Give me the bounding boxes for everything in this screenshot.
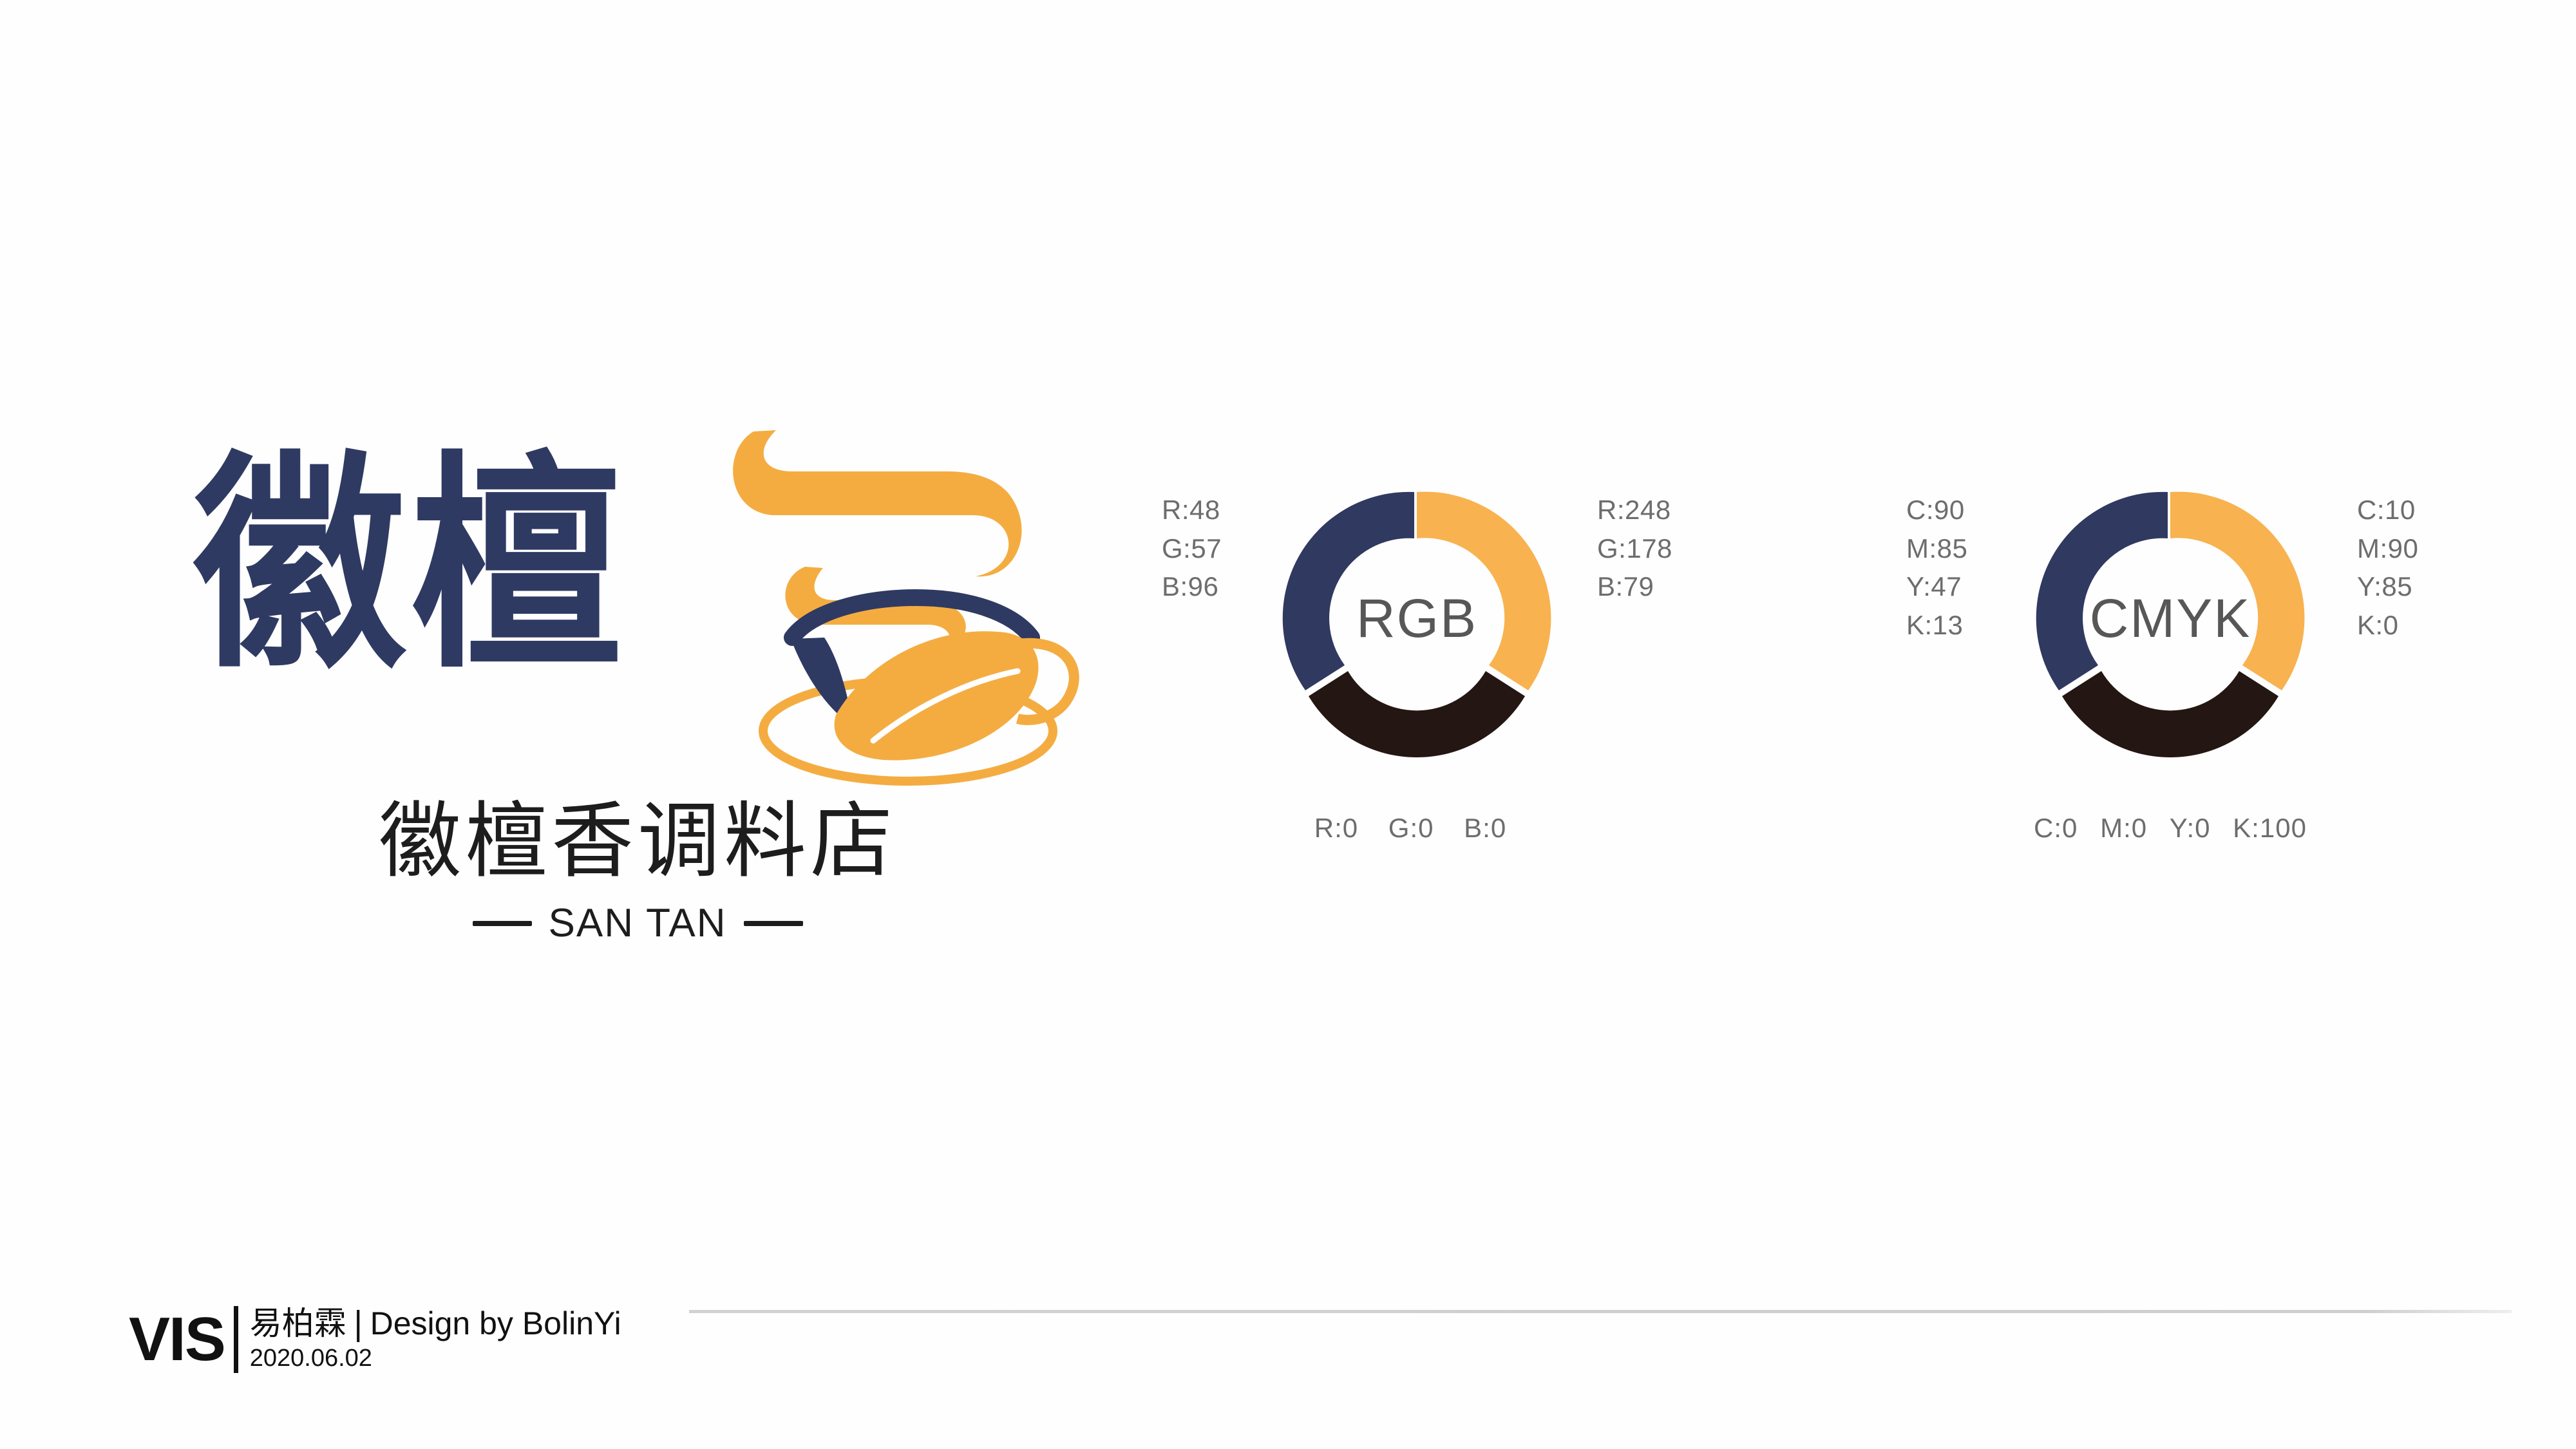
rgb-right-g: G:178 — [1597, 529, 1672, 568]
cmyk-right-m: M:90 — [2357, 529, 2418, 568]
footer-text-stack: 易柏霖 | Design by BolinYi 2020.06.02 — [250, 1307, 621, 1372]
rgb-donut-chart: RGB — [1275, 477, 1558, 760]
cmyk-left-m: M:85 — [1906, 529, 1967, 568]
rgb-bottom-b: B:0 — [1464, 813, 1506, 843]
logo-block: 徽檀 徽檀香调料店 — [167, 348, 1108, 1056]
cmyk-right-y: Y:85 — [2357, 567, 2418, 606]
rgb-right-r: R:248 — [1597, 491, 1672, 529]
swatch-cmyk-label-left: C:90 M:85 Y:47 K:13 — [1906, 491, 1967, 645]
footer-date: 2020.06.02 — [250, 1345, 621, 1372]
footer-credit-row: 易柏霖 | Design by BolinYi — [250, 1307, 621, 1341]
cmyk-left-c: C:90 — [1906, 491, 1967, 529]
rule-right-icon — [744, 921, 803, 926]
cmyk-right-k: K:0 — [2357, 606, 2418, 645]
footer-divider — [689, 1310, 2512, 1313]
rgb-right-b: B:79 — [1597, 567, 1672, 606]
rgb-left-r: R:48 — [1162, 491, 1222, 529]
cmyk-left-k: K:13 — [1906, 606, 1967, 645]
rgb-bottom-g: G:0 — [1388, 813, 1434, 843]
cmyk-bottom-k: K:100 — [2233, 813, 2307, 843]
footer-separator: | — [353, 1307, 364, 1341]
cmyk-bottom-y: Y:0 — [2170, 813, 2211, 843]
cmyk-bottom-c: C:0 — [2034, 813, 2078, 843]
logo-subtitle-cn: 徽檀香调料店 — [167, 799, 1108, 885]
cmyk-right-c: C:10 — [2357, 491, 2418, 529]
logo-subtitle-en: SAN TAN — [549, 900, 727, 946]
swatch-rgb-label-left: R:48 G:57 B:96 — [1162, 491, 1222, 606]
cmyk-bottom-m: M:0 — [2100, 813, 2147, 843]
coffee-cup-leaf-icon — [715, 354, 1114, 805]
cmyk-center-label: CMYK — [2029, 477, 2312, 760]
steam-upper-icon — [733, 430, 1021, 576]
footer-bar-icon — [234, 1306, 238, 1373]
logo-subtitle-group: 徽檀香调料店 SAN TAN — [167, 799, 1108, 946]
cmyk-left-y: Y:47 — [1906, 567, 1967, 606]
rule-left-icon — [473, 921, 532, 926]
cmyk-donut-chart: CMYK — [2029, 477, 2312, 760]
rgb-left-b: B:96 — [1162, 567, 1222, 606]
rgb-bottom-r: R:0 — [1314, 813, 1358, 843]
swatch-rgb: R:48 G:57 B:96 RGB R:248 G:178 B:79 R:0 … — [1153, 451, 1681, 1005]
logo-wordmark: 徽檀 — [193, 451, 626, 680]
swatch-rgb-label-bottom: R:0 G:0 B:0 — [1146, 809, 1674, 848]
logo-subtitle-en-row: SAN TAN — [167, 900, 1108, 946]
footer-vis-label: VIS — [129, 1309, 225, 1370]
swatch-rgb-label-right: R:248 G:178 B:79 — [1597, 491, 1672, 606]
logo-mark-row: 徽檀 — [167, 348, 1108, 811]
brand-guideline-page: 徽檀 徽檀香调料店 — [0, 0, 2576, 1449]
swatch-cmyk-label-right: C:10 M:90 Y:85 K:0 — [2357, 491, 2418, 645]
footer: VIS 易柏霖 | Design by BolinYi 2020.06.02 — [129, 1306, 621, 1373]
rgb-center-label: RGB — [1275, 477, 1558, 760]
swatch-cmyk: C:90 M:85 Y:47 K:13 CMYK C:10 M:90 Y:85 … — [1906, 451, 2434, 1005]
swatch-cmyk-label-bottom: C:0 M:0 Y:0 K:100 — [1906, 809, 2434, 848]
footer-author-cn: 易柏霖 — [250, 1307, 346, 1341]
cup-body-leaf-icon — [835, 631, 1039, 760]
footer-credit: Design by BolinYi — [370, 1307, 621, 1341]
rgb-left-g: G:57 — [1162, 529, 1222, 568]
